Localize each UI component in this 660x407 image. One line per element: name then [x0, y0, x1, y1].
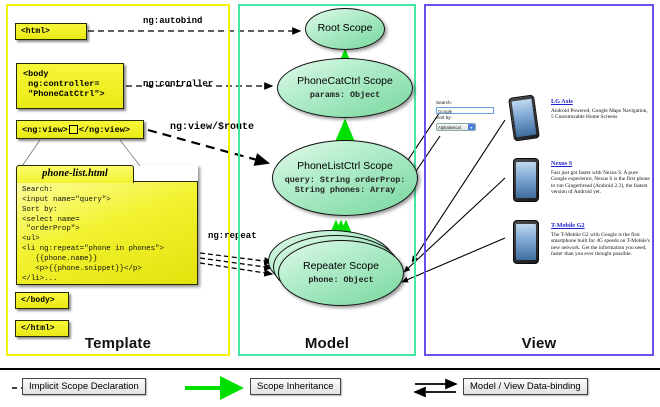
scope-phonelistctrl-props: query: String orderProp: String phones: …	[273, 175, 417, 195]
callout-title: phone-list.html	[16, 165, 134, 183]
ngview-open-tag: <ng:view>	[22, 125, 68, 135]
scope-repeater-props: phone: Object	[308, 275, 373, 285]
column-label-template: Template	[8, 335, 228, 352]
legend-label-implicit: Implicit Scope Declaration	[22, 378, 146, 395]
legend-item-databinding: Model / View Data-binding	[463, 378, 588, 395]
scope-repeater-title: Repeater Scope	[303, 261, 379, 273]
column-label-model: Model	[240, 335, 414, 352]
legend-label-inheritance: Scope Inheritance	[250, 378, 341, 395]
phone-screen-2	[516, 162, 536, 198]
ngview-close-tag: </ng:view>	[79, 125, 130, 135]
view-search-form: Search: Google Sort by: Alphabetical▾	[436, 100, 496, 131]
ngview-placeholder-icon	[69, 125, 78, 134]
legend: Implicit Scope Declaration Scope Inherit…	[0, 368, 660, 407]
phone-snippet: The T-Mobile G2 with Google is the first…	[551, 232, 651, 258]
phone-screen-1	[512, 99, 537, 137]
sort-select[interactable]: Alphabetical▾	[436, 123, 476, 131]
phone-screen-3	[516, 224, 536, 260]
code-box-body-open: <body ng:controller= "PhoneCatCtrl">	[16, 63, 124, 109]
sort-label: Sort by:	[436, 115, 496, 122]
legend-label-databinding: Model / View Data-binding	[463, 378, 588, 395]
column-label-view: View	[426, 335, 652, 352]
list-item: Nexus S Fast just got faster with Nexus …	[551, 160, 651, 196]
search-label: Search:	[436, 100, 496, 107]
scope-root-title: Root Scope	[318, 23, 373, 35]
scope-root: Root Scope	[305, 8, 385, 50]
connector-label-autobind: ng:autobind	[143, 16, 202, 26]
search-input[interactable]: Google	[436, 107, 494, 114]
scope-phonecatctrl-title: PhoneCatCtrl Scope	[297, 76, 393, 88]
phone-name-link[interactable]: T-Mobile G2	[551, 222, 651, 229]
scope-phonecatctrl-props: params: Object	[310, 90, 380, 100]
chevron-down-icon: ▾	[468, 124, 475, 130]
list-item: T-Mobile G2 The T-Mobile G2 with Google …	[551, 222, 651, 258]
phone-thumbnail-2	[513, 158, 539, 202]
phone-name-link[interactable]: Nexus S	[551, 160, 651, 167]
scope-phonelistctrl: PhoneListCtrl Scope query: String orderP…	[272, 140, 418, 216]
code-box-ngview: <ng:view></ng:view>	[16, 120, 144, 139]
phone-name-link[interactable]: LG Axis	[551, 98, 651, 105]
code-box-html-close: </html>	[15, 320, 69, 337]
legend-item-inheritance: Scope Inheritance	[250, 378, 341, 395]
code-box-html-open: <html>	[15, 23, 87, 40]
code-box-body-close: </body>	[15, 292, 69, 309]
connector-label-controller: ng:controller	[143, 79, 213, 89]
sort-select-value: Alphabetical	[438, 125, 461, 130]
legend-item-implicit: Implicit Scope Declaration	[22, 378, 146, 395]
scope-repeater: Repeater Scope phone: Object	[278, 240, 404, 306]
callout-code: Search: <input name="query"> Sort by: <s…	[16, 181, 198, 285]
scope-phonelistctrl-title: PhoneListCtrl Scope	[297, 161, 393, 173]
scope-phonecatctrl: PhoneCatCtrl Scope params: Object	[277, 58, 413, 118]
diagram-canvas: Template <html> <body ng:controller= "Ph…	[0, 0, 660, 405]
list-item: LG Axis Android Powered, Google Maps Nav…	[551, 98, 651, 121]
phone-snippet: Android Powered, Google Maps Navigation,…	[551, 108, 651, 121]
phone-snippet: Fast just got faster with Nexus S. A pur…	[551, 170, 651, 196]
phone-thumbnail-3	[513, 220, 539, 264]
template-callout-phone-list: phone-list.html Search: <input name="que…	[16, 165, 198, 285]
